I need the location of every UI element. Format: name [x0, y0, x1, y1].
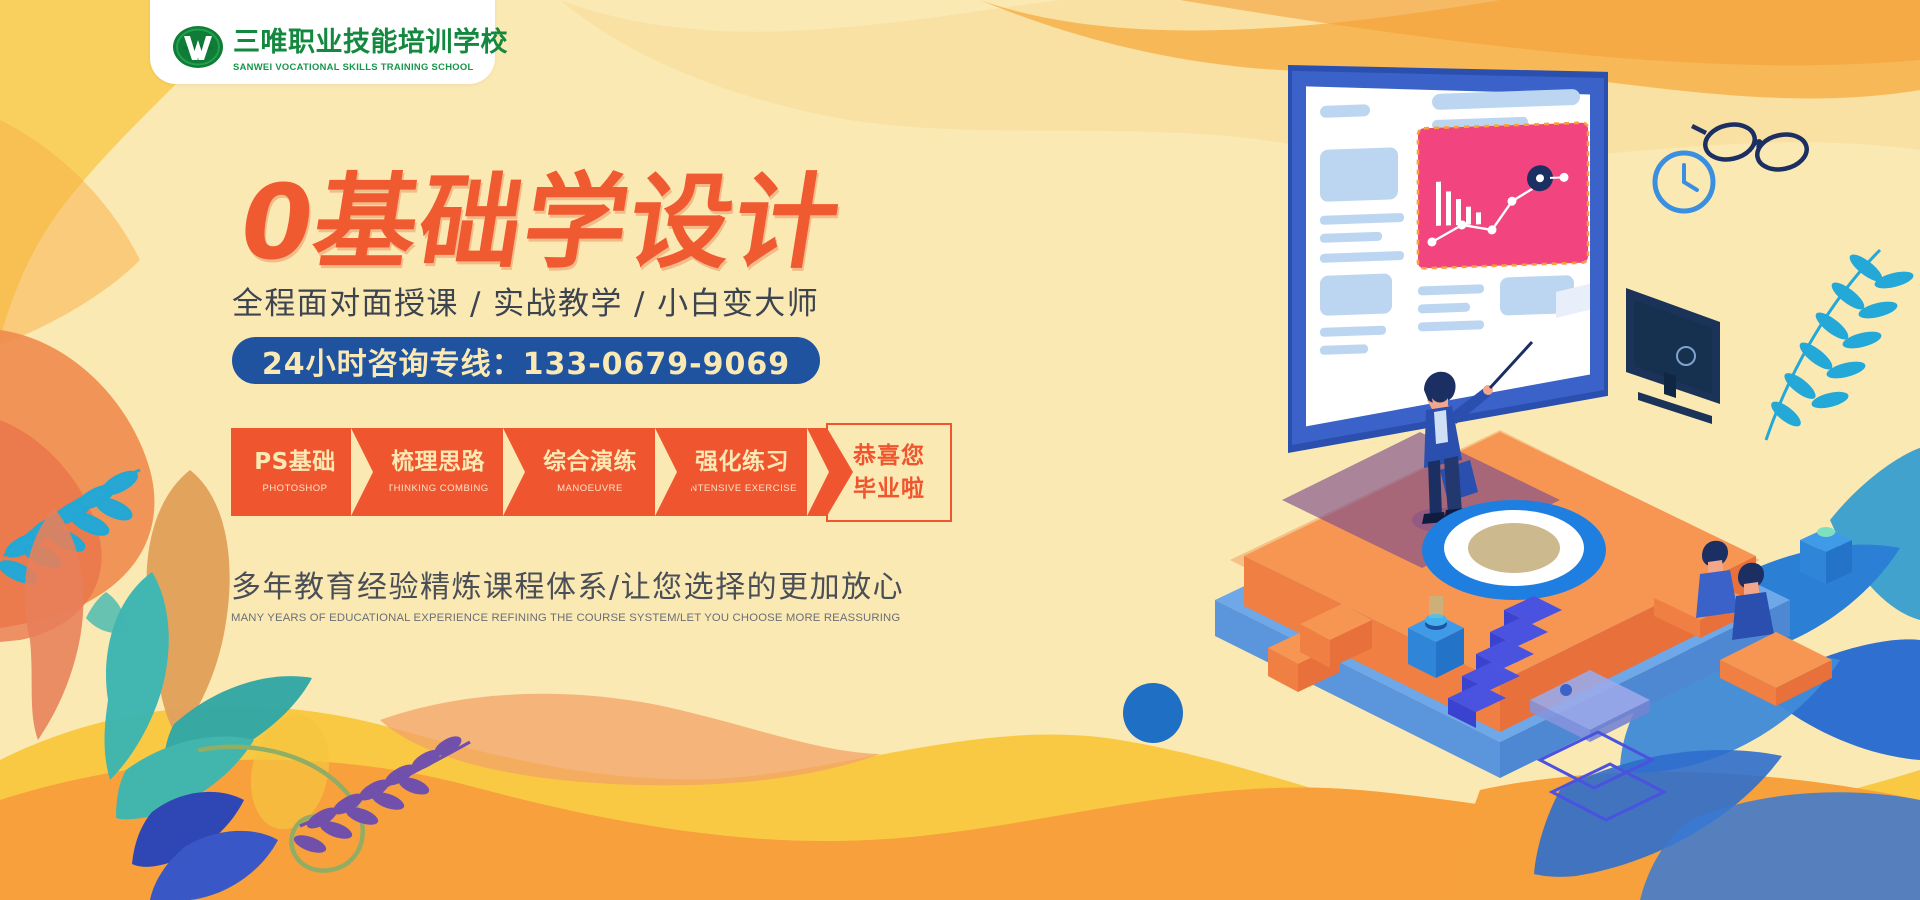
footer-tagline: 多年教育经验精炼课程体系/让您选择的更加放心 MANY YEARS OF EDU… [231, 562, 904, 624]
step-label-en: THINKING COMBING [387, 483, 488, 494]
logo-name-cn: 三唯职业技能培训学校 [233, 29, 508, 58]
step-label-cn: PS基础 [254, 450, 335, 475]
process-step-1[interactable]: PS基础 PHOTOSHOP [231, 428, 371, 516]
page-title: 0基础学设计 [233, 172, 848, 275]
round-table-decoration [1422, 500, 1606, 600]
chevron-notch-icon [807, 428, 829, 516]
step-label-cn: 梳理思路 [391, 450, 485, 475]
tagline-en: MANY YEARS OF EDUCATIONAL EXPERIENCE REF… [231, 612, 904, 624]
hotline-label: 24小时咨询专线：133-0679-9069 [262, 339, 790, 383]
school-logo-card[interactable]: 三唯职业技能培训学校 SANWEI VOCATIONAL SKILLS TRAI… [150, 0, 495, 84]
blue-circle-decoration [1123, 683, 1183, 743]
step-label-en: PHOTOSHOP [262, 483, 327, 494]
graduation-line-1: 恭喜您 [853, 440, 925, 473]
process-steps: PS基础 PHOTOSHOP 梳理思路 THINKING COMBING 综合演… [231, 428, 827, 516]
consultation-hotline-pill[interactable]: 24小时咨询专线：133-0679-9069 [232, 337, 820, 384]
graduation-line-2: 毕业啦 [853, 473, 925, 506]
step-label-en: MANOEUVRE [557, 483, 623, 494]
banner-content: 0基础学设计 全程面对面授课 / 实战教学 / 小白变大师 24小时咨询专线：1… [0, 0, 1060, 900]
hero-subtitle: 全程面对面授课 / 实战教学 / 小白变大师 [232, 278, 819, 323]
step-label-cn: 强化练习 [695, 450, 789, 475]
step-label-en: INTENSIVE EXERCISE [687, 483, 797, 494]
oval-w-emblem-icon [172, 24, 224, 70]
chevron-notch-icon [351, 428, 373, 516]
logo-text-block: 三唯职业技能培训学校 SANWEI VOCATIONAL SKILLS TRAI… [233, 29, 508, 72]
chevron-notch-icon [503, 428, 525, 516]
logo-name-en: SANWEI VOCATIONAL SKILLS TRAINING SCHOOL [233, 61, 508, 72]
chevron-notch-icon [655, 428, 677, 516]
step-label-cn: 综合演练 [543, 450, 637, 475]
promotional-banner: 三唯职业技能培训学校 SANWEI VOCATIONAL SKILLS TRAI… [0, 0, 1920, 900]
tagline-cn: 多年教育经验精炼课程体系/让您选择的更加放心 [231, 562, 904, 606]
